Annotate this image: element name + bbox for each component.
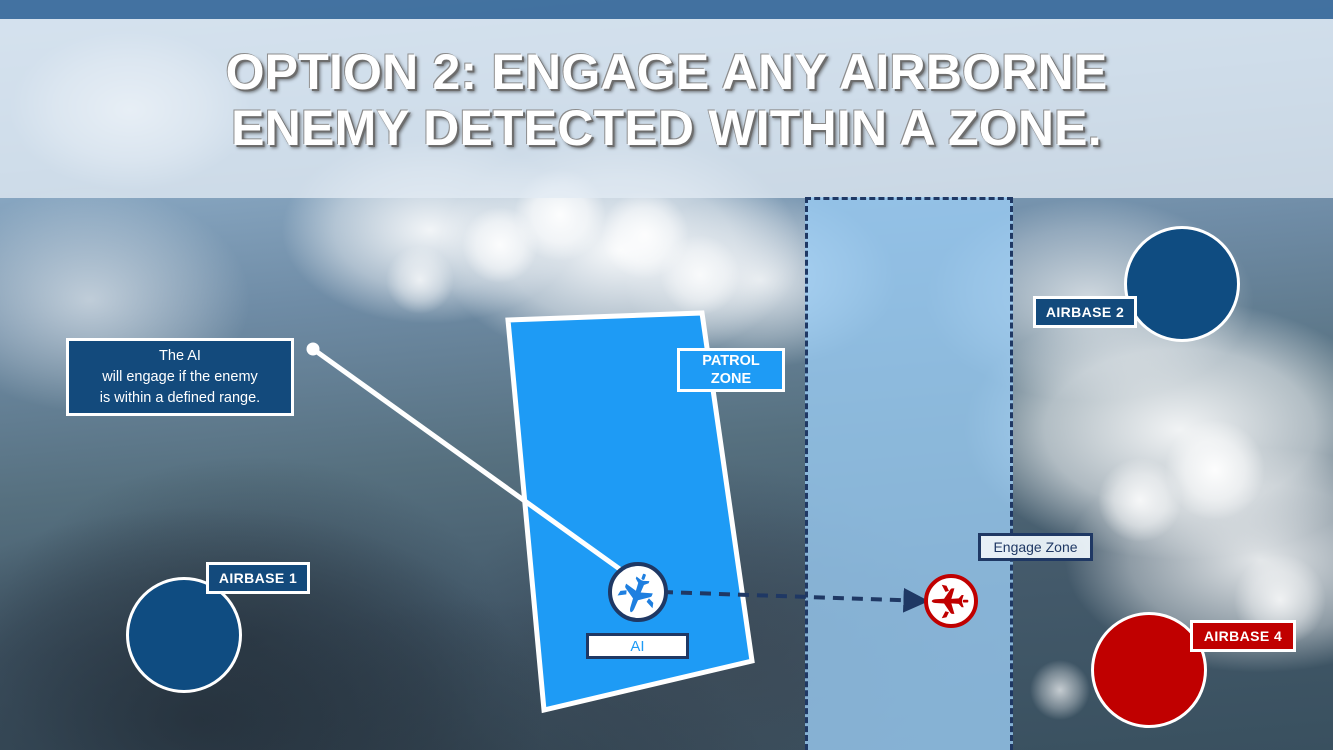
callout-line-3: is within a defined range. [100,388,260,409]
engage-zone-label-text: Engage Zone [993,539,1077,555]
airbase-4-label-text: AIRBASE 4 [1204,628,1282,644]
airbase-1-label-text: AIRBASE 1 [219,570,297,586]
airbase-4-label[interactable]: AIRBASE 4 [1190,620,1296,652]
airbase-1-label[interactable]: AIRBASE 1 [206,562,310,594]
patrol-zone-label[interactable]: PATROL ZONE [677,348,785,392]
airbase-1-circle[interactable] [126,577,242,693]
engage-zone-rect[interactable] [805,197,1013,750]
enemy-aircraft-token[interactable] [924,574,978,628]
slide-canvas: OPTION 2: ENGAGE ANY AIRBORNE ENEMY DETE… [0,0,1333,750]
ai-aircraft-label-text: AI [630,638,644,655]
patrol-zone-label-line-2: ZONE [711,370,751,388]
ai-aircraft-label[interactable]: AI [586,633,689,659]
ai-behaviour-callout[interactable]: The AI will engage if the enemy is withi… [66,338,294,416]
page-title: OPTION 2: ENGAGE ANY AIRBORNE ENEMY DETE… [0,44,1333,156]
engage-zone-label[interactable]: Engage Zone [978,533,1093,561]
callout-line-2: will engage if the enemy [100,367,260,388]
page-title-line-2: ENEMY DETECTED WITHIN A ZONE. [0,100,1333,156]
patrol-zone-label-line-1: PATROL [702,352,759,370]
airbase-2-label-text: AIRBASE 2 [1046,304,1124,320]
airbase-2-label[interactable]: AIRBASE 2 [1033,296,1137,328]
callout-line-1: The AI [100,346,260,367]
page-title-line-1: OPTION 2: ENGAGE ANY AIRBORNE [0,44,1333,100]
airbase-2-circle[interactable] [1124,226,1240,342]
top-accent-strip [0,0,1333,19]
fighter-jet-icon [924,574,978,628]
fighter-jet-icon [608,562,668,622]
ai-aircraft-token[interactable] [608,562,668,622]
